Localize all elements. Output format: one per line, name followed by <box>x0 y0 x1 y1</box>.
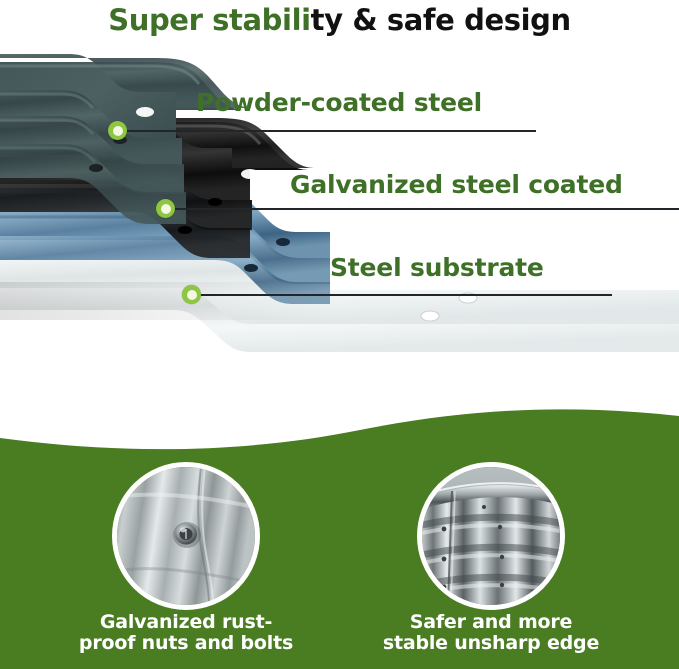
page-title-black-text: ty & safe design <box>311 3 571 37</box>
green-dot-marker-galvanized <box>156 199 175 218</box>
green-dot-marker-powder-coated <box>108 121 127 140</box>
rolled-safety-edge-closeup-photo <box>417 462 565 610</box>
leader-line-powder-coated <box>122 130 536 132</box>
feature-caption-bolts-line2: proof nuts and bolts <box>61 633 311 654</box>
feature-caption-edge-line2: stable unsharp edge <box>366 633 616 654</box>
callout-label-powder-coated: Powder-coated steel <box>196 90 482 115</box>
page-title: Super stability & safe design <box>0 0 679 40</box>
leader-line-substrate <box>196 294 612 296</box>
feature-caption-bolts: Galvanized rust- proof nuts and bolts <box>61 612 311 654</box>
callout-label-substrate: Steel substrate <box>330 255 544 280</box>
leader-line-galvanized <box>170 208 679 210</box>
product-infographic: Super stability & safe design <box>0 0 679 669</box>
galvanized-bolt-closeup-photo <box>112 462 260 610</box>
green-dot-marker-substrate <box>182 285 201 304</box>
feature-caption-edge-line1: Safer and more <box>366 612 616 633</box>
feature-caption-bolts-line1: Galvanized rust- <box>61 612 311 633</box>
feature-caption-edge: Safer and more stable unsharp edge <box>366 612 616 654</box>
page-title-green-text: Super stabili <box>108 3 310 37</box>
callout-label-galvanized: Galvanized steel coated <box>290 172 623 197</box>
